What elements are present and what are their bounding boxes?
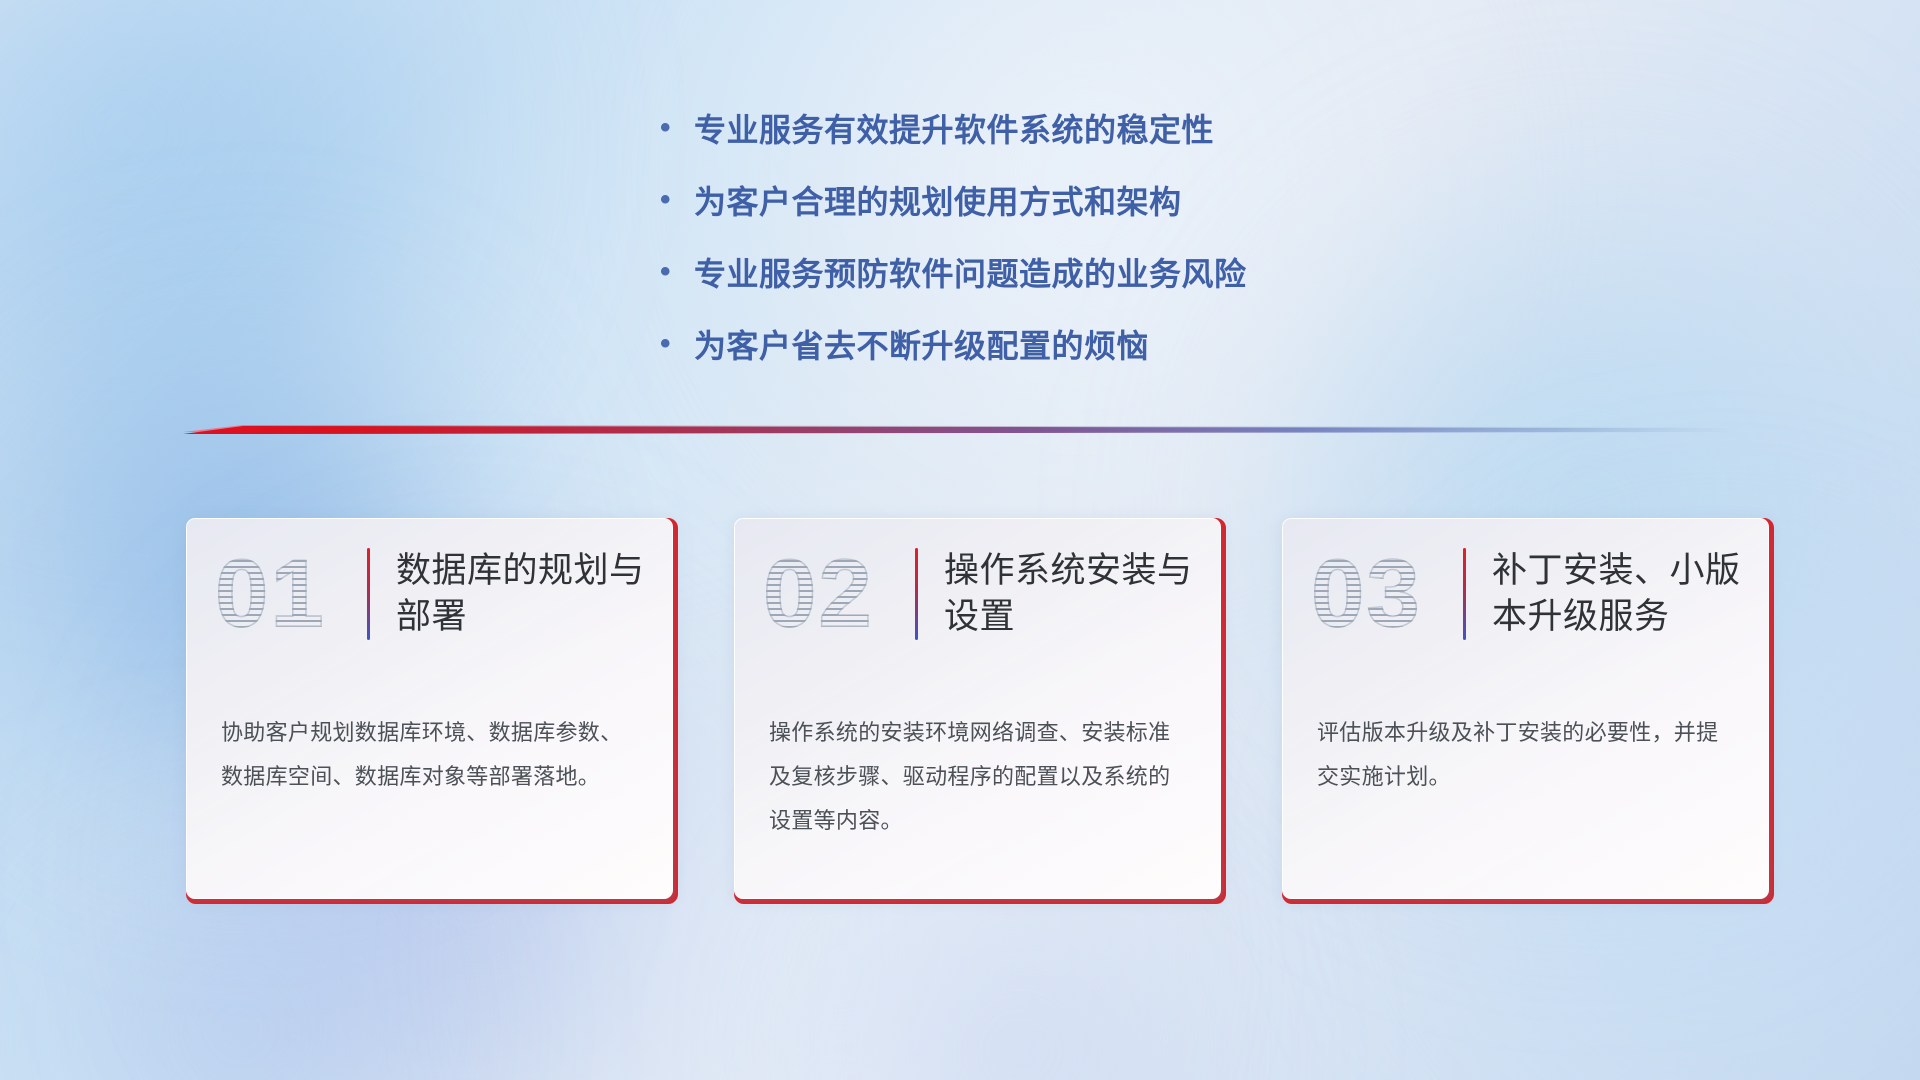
card-title: 操作系统安装与设置 bbox=[944, 548, 1194, 640]
list-item: • 为客户合理的规划使用方式和架构 bbox=[660, 182, 1520, 222]
bullet-text: 专业服务有效提升软件系统的稳定性 bbox=[694, 110, 1214, 150]
card-header: 01 数据库的规划与部署 bbox=[187, 519, 672, 669]
card-body-text: 评估版本升级及补丁安装的必要性，并提交实施计划。 bbox=[1283, 669, 1768, 799]
card-title: 数据库的规划与部署 bbox=[396, 548, 646, 640]
card-title: 补丁安装、小版本升级服务 bbox=[1492, 548, 1742, 640]
card-surface: 02 操作系统安装与设置 操作系统的安装环境网络调查、安装标准及复核步骤、驱动程… bbox=[734, 518, 1221, 899]
card-header: 02 操作系统安装与设置 bbox=[735, 519, 1220, 669]
card-title-divider bbox=[915, 548, 918, 640]
card-body-text: 协助客户规划数据库环境、数据库参数、数据库空间、数据库对象等部署落地。 bbox=[187, 669, 672, 799]
bullet-text: 为客户合理的规划使用方式和架构 bbox=[694, 182, 1182, 222]
bullet-dot-icon: • bbox=[660, 113, 694, 143]
list-item: • 为客户省去不断升级配置的烦恼 bbox=[660, 326, 1520, 366]
card-body-text: 操作系统的安装环境网络调查、安装标准及复核步骤、驱动程序的配置以及系统的设置等内… bbox=[735, 669, 1220, 843]
bullet-text: 为客户省去不断升级配置的烦恼 bbox=[694, 326, 1149, 366]
service-card-03[interactable]: 03 补丁安装、小版本升级服务 评估版本升级及补丁安装的必要性，并提交实施计划。 bbox=[1282, 518, 1774, 904]
list-item: • 专业服务预防软件问题造成的业务风险 bbox=[660, 254, 1520, 294]
card-title-divider bbox=[1463, 548, 1466, 640]
card-header: 03 补丁安装、小版本升级服务 bbox=[1283, 519, 1768, 669]
card-title-divider bbox=[367, 548, 370, 640]
service-card-list: 01 数据库的规划与部署 协助客户规划数据库环境、数据库参数、数据库空间、数据库… bbox=[186, 518, 1774, 904]
bullet-dot-icon: • bbox=[660, 257, 694, 287]
bullet-dot-icon: • bbox=[660, 329, 694, 359]
service-card-01[interactable]: 01 数据库的规划与部署 协助客户规划数据库环境、数据库参数、数据库空间、数据库… bbox=[186, 518, 678, 904]
service-card-02[interactable]: 02 操作系统安装与设置 操作系统的安装环境网络调查、安装标准及复核步骤、驱动程… bbox=[734, 518, 1226, 904]
list-item: • 专业服务有效提升软件系统的稳定性 bbox=[660, 110, 1520, 150]
benefits-bullet-list: • 专业服务有效提升软件系统的稳定性 • 为客户合理的规划使用方式和架构 • 专… bbox=[660, 110, 1520, 398]
divider-line-icon bbox=[183, 418, 1743, 444]
bullet-dot-icon: • bbox=[660, 185, 694, 215]
section-divider bbox=[183, 418, 1743, 444]
card-surface: 01 数据库的规划与部署 协助客户规划数据库环境、数据库参数、数据库空间、数据库… bbox=[186, 518, 673, 899]
card-number: 01 bbox=[215, 536, 363, 652]
card-number: 02 bbox=[763, 536, 911, 652]
card-surface: 03 补丁安装、小版本升级服务 评估版本升级及补丁安装的必要性，并提交实施计划。 bbox=[1282, 518, 1769, 899]
card-number: 03 bbox=[1311, 536, 1459, 652]
bullet-text: 专业服务预防软件问题造成的业务风险 bbox=[694, 254, 1247, 294]
